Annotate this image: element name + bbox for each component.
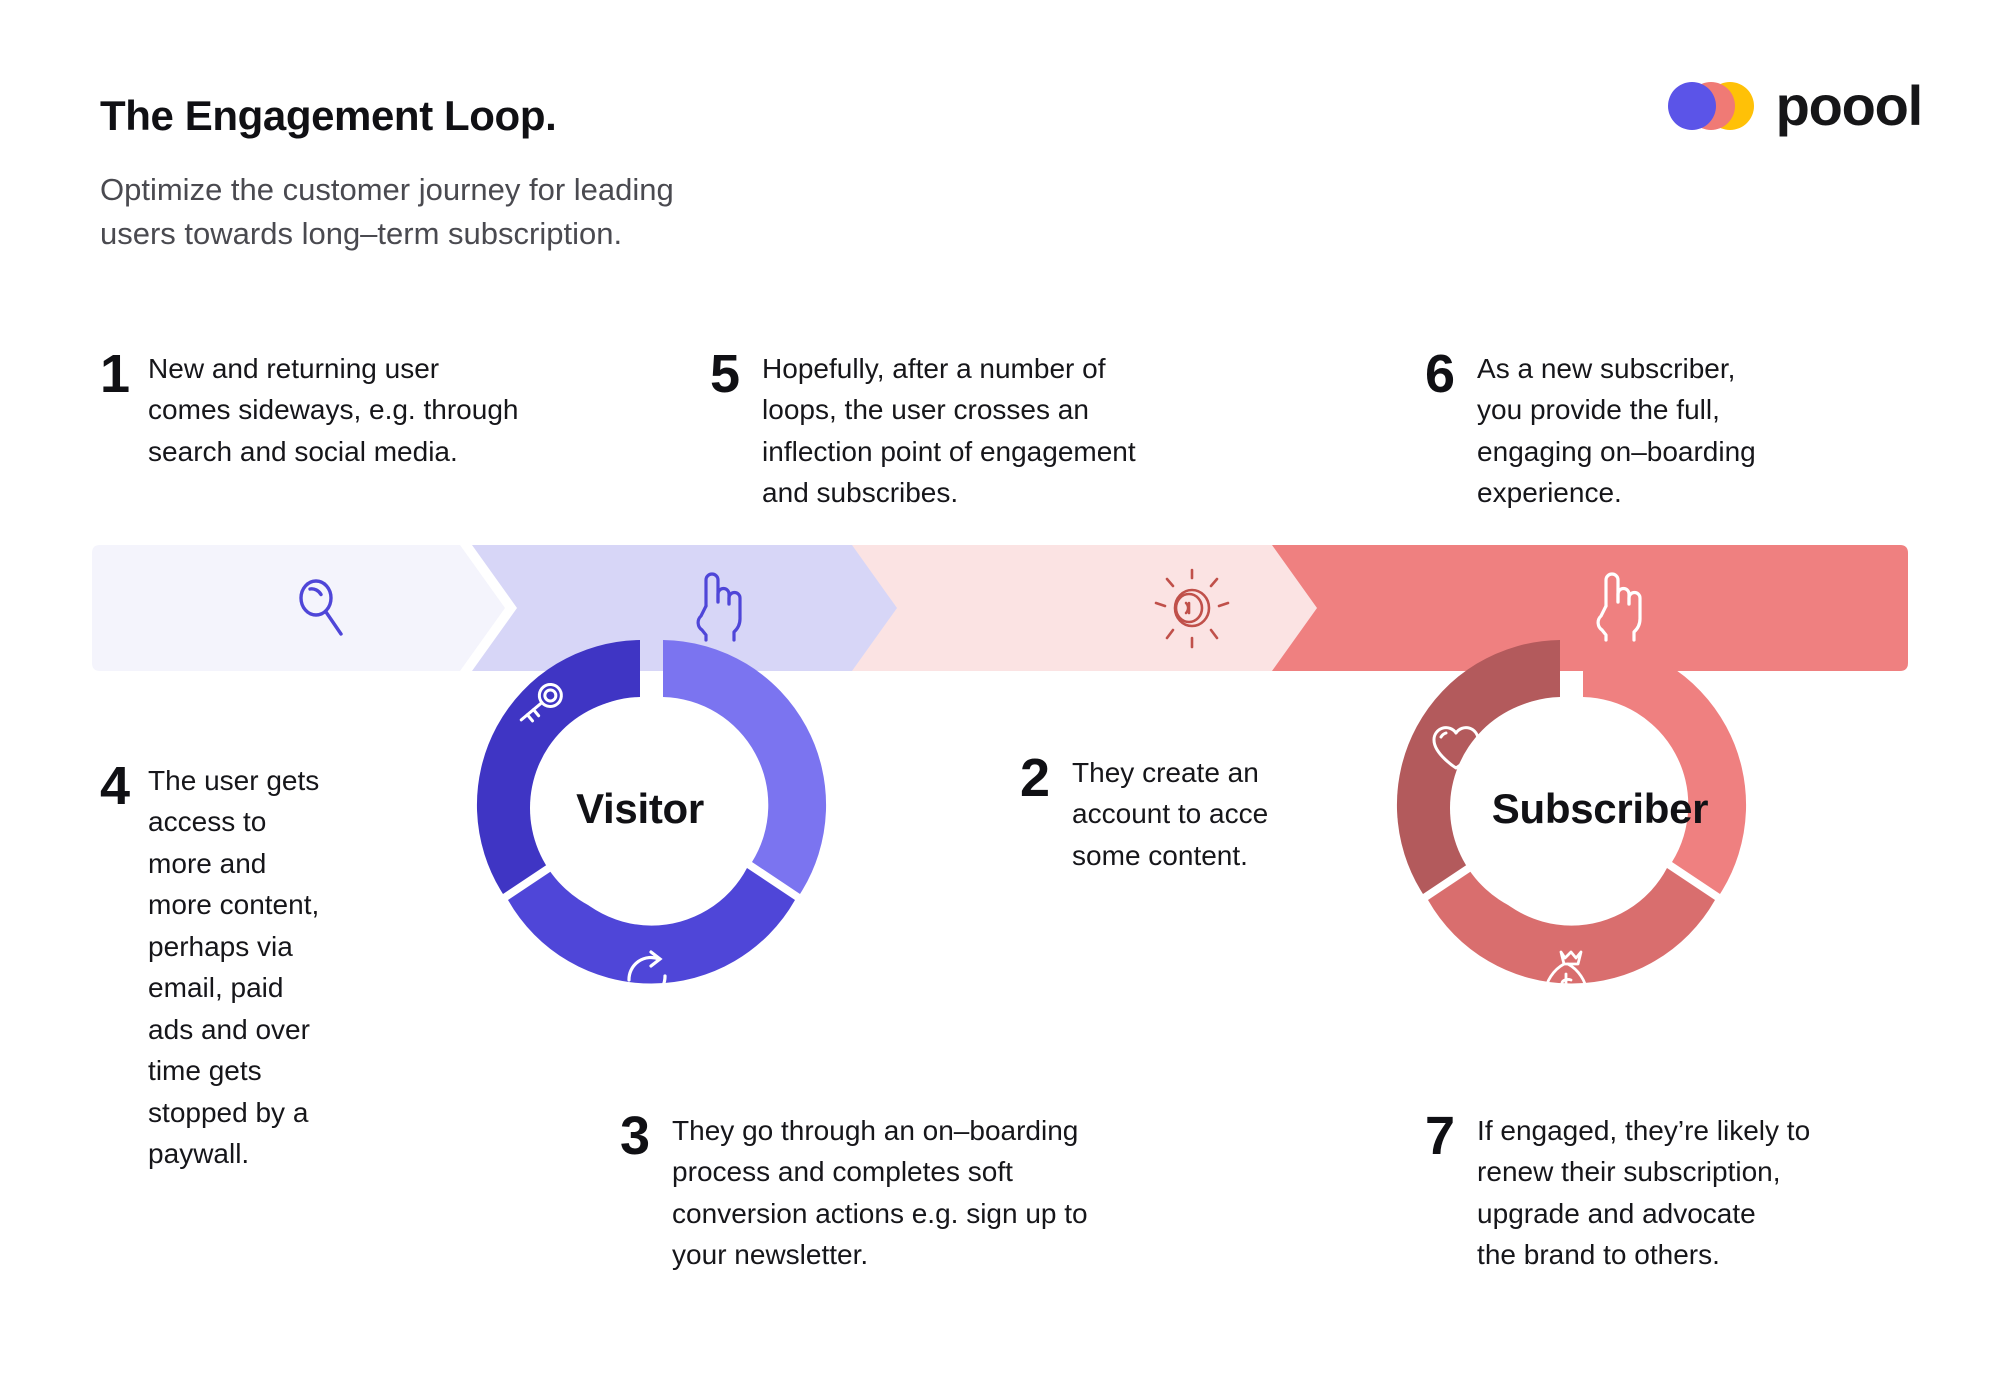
loop-segment[interactable] (508, 868, 795, 1004)
step-3: 3 They go through an on–boarding process… (620, 1110, 1172, 1276)
magic-wand-icon (899, 790, 976, 856)
step-5-text: Hopefully, after a number of loops, the … (762, 348, 1232, 514)
step-7-text: If engaged, they’re likely to renew thei… (1477, 1110, 1877, 1276)
step-2-number: 2 (1020, 752, 1050, 805)
page-title: The Engagement Loop. (100, 92, 556, 140)
band-acquisition[interactable] (92, 545, 505, 671)
step-1-number: 1 (100, 348, 130, 401)
poool-logo: poool (1668, 78, 1922, 134)
step-3-text: They go through an on–boarding process a… (672, 1110, 1172, 1276)
step-4-number: 4 (100, 760, 130, 813)
step-6-number: 6 (1425, 348, 1455, 401)
step-7: 7 If engaged, they’re likely to renew th… (1425, 1110, 1877, 1276)
step-4-text: The user gets access to more and more co… (148, 760, 363, 1174)
paywall-segment[interactable] (477, 640, 640, 894)
step-5: 5 Hopefully, after a number of loops, th… (710, 348, 1232, 514)
step-2-text: They create an account to acce some cont… (1072, 752, 1317, 876)
step-6: 6 As a new subscriber, you provide the f… (1425, 348, 1837, 514)
logo-mark-icon (1668, 82, 1754, 130)
refresh-icon (1787, 784, 1823, 836)
visitor-label: Visitor (520, 785, 760, 833)
logo-dot-blue-icon (1668, 82, 1716, 130)
step-6-text: As a new subscriber, you provide the ful… (1477, 348, 1837, 514)
step-1-text: New and returning user comes sideways, e… (148, 348, 598, 472)
step-7-number: 7 (1425, 1110, 1455, 1163)
soft-conversion-segment[interactable] (663, 640, 976, 894)
renewal-segment[interactable] (1583, 640, 1823, 894)
step-1: 1 New and returning user comes sideways,… (100, 348, 598, 472)
band-conversion[interactable] (852, 545, 1345, 671)
step-4: 4 The user gets access to more and more … (100, 760, 363, 1174)
step-3-number: 3 (620, 1110, 650, 1163)
logo-wordmark: poool (1776, 78, 1922, 134)
step-2: 2 They create an account to acce some co… (1020, 752, 1317, 876)
revenue-segment[interactable] (1428, 868, 1715, 1004)
step-5-number: 5 (710, 348, 740, 401)
subscriber-label: Subscriber (1440, 785, 1760, 833)
engagement-segment[interactable] (1397, 640, 1560, 894)
page-subtitle: Optimize the customer journey for leadin… (100, 168, 860, 256)
